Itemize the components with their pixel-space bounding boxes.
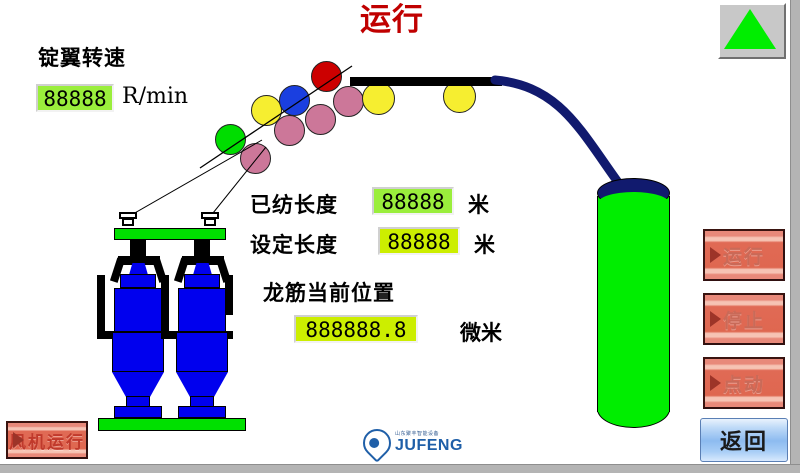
hmi-screen: 运行 锭翼转速 88888 R/min 已纺长度 88888 米 设定长度 88… <box>0 0 800 473</box>
bobbin-lower-left <box>112 332 164 372</box>
rib-position-label: 龙筋当前位置 <box>263 277 395 307</box>
stop-arrow-icon <box>710 311 721 327</box>
bobbin-yellow-2 <box>362 82 395 115</box>
spun-length-value[interactable]: 88888 <box>372 187 454 215</box>
flyer-speed-label: 锭翼转速 <box>38 42 126 72</box>
run-button-label: 运行 <box>723 242 765 269</box>
stop-button[interactable]: 停止 <box>703 293 785 345</box>
cap-stem-right <box>204 218 216 226</box>
rib-position-value[interactable]: 888888.8 <box>294 315 418 343</box>
bobbin-upper-left <box>120 274 156 288</box>
jog-button-label: 点动 <box>723 370 765 397</box>
fan-run-arrow-icon <box>13 432 24 448</box>
brand-company-en: JUFENG <box>395 438 463 454</box>
bobbin-pink-4 <box>333 86 364 117</box>
set-length-unit: 米 <box>474 229 495 259</box>
bobbin-upper-right <box>184 274 220 288</box>
set-length-label: 设定长度 <box>250 229 338 259</box>
bobbin-lower-right <box>176 332 228 372</box>
lower-plate <box>98 418 246 431</box>
window-edge-right <box>790 0 800 473</box>
flyer-leg-right-outer <box>161 275 169 339</box>
back-button-label: 返回 <box>720 424 768 456</box>
page-title: 运行 <box>322 1 462 39</box>
bobbin-red <box>311 61 342 92</box>
rib-position-unit: 微米 <box>460 317 502 347</box>
flyer-speed-value[interactable]: 88888 <box>36 84 114 112</box>
up-triangle-icon <box>724 9 776 49</box>
jog-arrow-icon <box>710 375 721 391</box>
can-body <box>597 196 670 412</box>
run-button[interactable]: 运行 <box>703 229 785 281</box>
bobbin-taper-left <box>112 372 164 398</box>
bobbin-base-left <box>114 406 162 418</box>
upper-plate <box>114 228 226 240</box>
set-length-value[interactable]: 88888 <box>378 227 460 255</box>
flyer-speed-unit: R/min <box>122 84 188 109</box>
bobbin-yellow-3 <box>443 80 476 113</box>
cap-stem-left <box>122 218 134 226</box>
jufeng-droplet-icon <box>357 423 397 463</box>
scroll-up-button[interactable] <box>718 3 786 59</box>
jog-button[interactable]: 点动 <box>703 357 785 409</box>
can-opening <box>598 192 669 214</box>
spun-length-unit: 米 <box>468 189 489 219</box>
back-button[interactable]: 返回 <box>700 418 788 462</box>
bobbin-blue <box>279 85 310 116</box>
stop-button-label: 停止 <box>723 306 765 333</box>
run-arrow-icon <box>710 247 721 263</box>
bobbin-pink-3 <box>305 104 336 135</box>
window-edge-bottom <box>0 464 800 473</box>
bobbin-mid-left <box>114 288 162 332</box>
spun-length-label: 已纺长度 <box>250 189 338 219</box>
bobbin-taper-right <box>176 372 228 398</box>
bobbin-base-right <box>178 406 226 418</box>
bobbin-mid-right <box>178 288 226 332</box>
flyer-leg-left-outer <box>97 275 105 339</box>
bobbin-pink-2 <box>274 115 305 146</box>
flyer-leg-right-inner <box>225 275 233 315</box>
brand-logo: 山东聚丰智能设备 JUFENG <box>363 428 473 458</box>
fan-run-button[interactable]: 风机运行 <box>6 421 88 459</box>
bobbin-pink-1 <box>240 143 271 174</box>
